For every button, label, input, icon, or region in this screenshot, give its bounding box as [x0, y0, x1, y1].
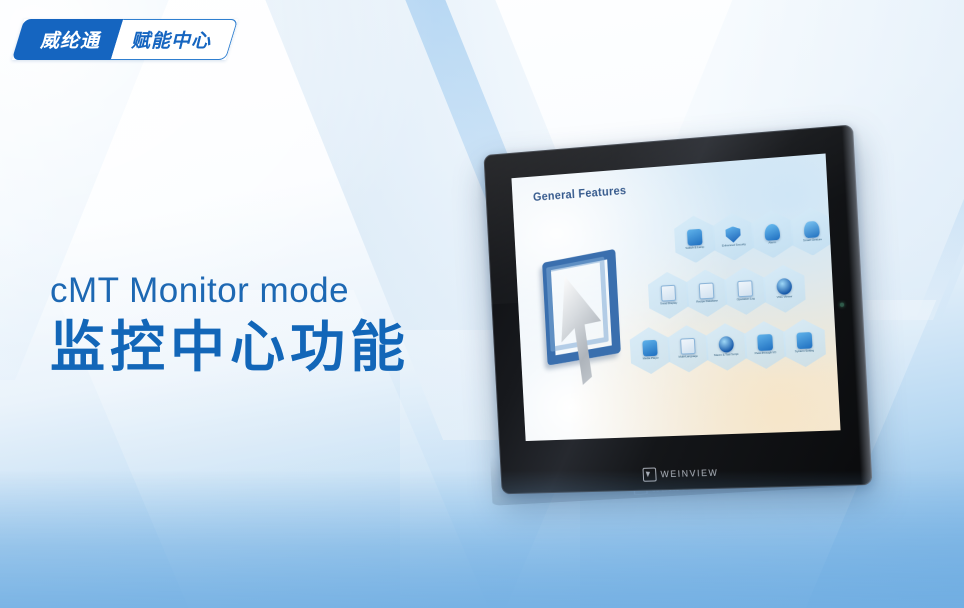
feature-hex-label: VNC Viewer: [777, 295, 793, 299]
database-table-icon: [699, 282, 715, 299]
feature-hex-system-setting[interactable]: System Setting: [782, 318, 826, 368]
switch-lamp-icon: [687, 228, 703, 245]
feature-hex-media-play[interactable]: Media Player: [629, 326, 671, 375]
hmi-device: General Features Switch & LampEnhanced S…: [483, 124, 872, 494]
headline-chinese: 监控中心功能: [50, 317, 410, 379]
decorative-band-right-edge: [915, 0, 964, 320]
feature-hex-trend-chart[interactable]: Trend Display: [647, 271, 689, 320]
ribbon-brand-label: 威纶通: [40, 26, 100, 53]
cursor-square-icon: [643, 467, 657, 481]
feature-hex-label: Macro & Tool Script: [714, 353, 739, 358]
feature-hex-label: Smart Gesture: [803, 238, 822, 243]
feature-hex-multi-language[interactable]: Multi-Language: [667, 324, 710, 373]
screen-title: General Features: [533, 186, 627, 205]
feature-hex-label: System Setting: [795, 350, 815, 354]
brand-ribbon: 威纶通 赋能中心: [12, 19, 239, 60]
feature-hex-clipboard-log[interactable]: Operation Log: [723, 266, 766, 316]
ribbon-subtitle-label: 赋能中心: [131, 26, 211, 53]
feature-row-2: Trend DisplayRecipe DatabaseOperation Lo…: [647, 264, 804, 320]
status-led-icon: [840, 302, 844, 306]
feature-hex-vnc-eye[interactable]: VNC Viewer: [762, 264, 806, 314]
weinview-3d-logo-icon: [536, 250, 635, 393]
multi-language-icon: [680, 338, 696, 355]
feature-hex-switch-lamp[interactable]: Switch & Lamp: [673, 214, 716, 264]
feature-hex-pass-through[interactable]: Pass-through I/O: [743, 320, 787, 370]
media-play-icon: [642, 340, 657, 357]
touch-hand-icon: [803, 221, 819, 238]
feature-hex-label: Alarm: [769, 241, 777, 245]
clipboard-log-icon: [737, 280, 753, 297]
bell-icon: [764, 223, 780, 240]
feature-hex-label: Recipe Database: [696, 299, 718, 304]
feature-hex-gauge-macro[interactable]: Macro & Tool Script: [705, 322, 748, 371]
feature-row-3: Media PlayerMulti-LanguageMacro & Tool S…: [629, 318, 825, 375]
ribbon-left-segment: 威纶通: [12, 19, 124, 60]
feature-hex-shield-lock[interactable]: Enhanced Security: [712, 212, 755, 262]
vnc-eye-icon: [776, 278, 792, 295]
feature-hex-database-table[interactable]: Recipe Database: [685, 268, 728, 318]
device-brand: WEINVIEW: [501, 461, 872, 485]
feature-hex-label: Media Player: [642, 357, 658, 361]
feature-row-1: Switch & LampEnhanced SecurityAlarmSmart…: [673, 206, 832, 264]
device-bezel: General Features Switch & LampEnhanced S…: [483, 124, 872, 494]
feature-hex-label: Operation Log: [736, 297, 754, 301]
gauge-macro-icon: [718, 336, 734, 353]
hmi-screen[interactable]: General Features Switch & LampEnhanced S…: [511, 154, 840, 441]
shield-lock-icon: [725, 226, 741, 243]
headline-block: cMT Monitor mode 监控中心功能: [50, 272, 410, 378]
feature-hex-grid: Switch & LampEnhanced SecurityAlarmSmart…: [623, 207, 833, 424]
feature-hex-touch-hand[interactable]: Smart Gesture: [790, 206, 834, 257]
bezel-right-edge: [842, 124, 873, 485]
trend-chart-icon: [660, 285, 675, 302]
system-setting-icon: [796, 332, 812, 349]
headline-english: cMT Monitor mode: [50, 272, 410, 311]
pass-through-icon: [757, 334, 773, 351]
ribbon-right-segment: 赋能中心: [111, 19, 239, 60]
promo-banner: 威纶通 赋能中心 cMT Monitor mode 监控中心功能 WEINVIE…: [0, 0, 964, 608]
feature-hex-label: Trend Display: [660, 302, 677, 306]
device-brand-label: WEINVIEW: [660, 468, 719, 480]
feature-hex-label: Multi-Language: [679, 355, 698, 359]
feature-hex-bell[interactable]: Alarm: [750, 209, 794, 259]
feature-hex-label: Switch & Lamp: [686, 245, 705, 250]
hmi-device-area: WEINVIEW General Features Switch: [462, 130, 902, 530]
feature-hex-label: Enhanced Security: [722, 243, 746, 248]
feature-hex-label: Pass-through I/O: [755, 351, 777, 355]
